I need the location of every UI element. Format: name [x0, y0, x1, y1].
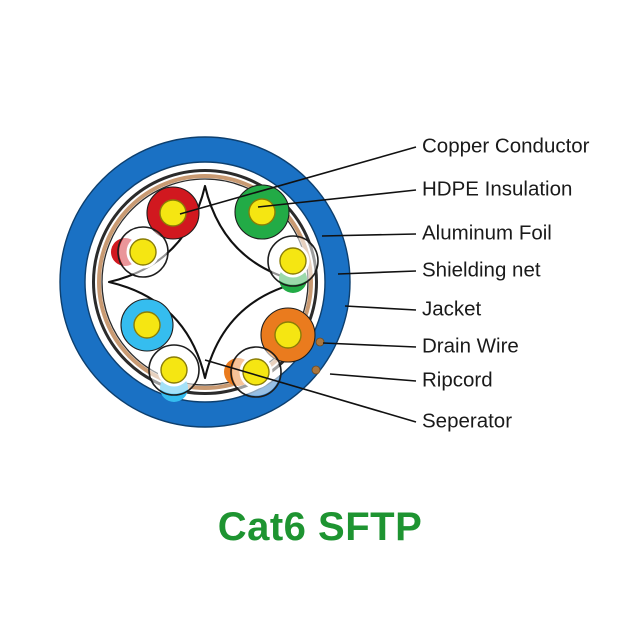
cable-cross-section-diagram: Copper ConductorHDPE InsulationAluminum …	[0, 0, 640, 640]
label-hdpe-insulation: HDPE Insulation	[422, 177, 572, 200]
label-ripcord: Ripcord	[422, 368, 493, 391]
ripcord-dot	[312, 366, 320, 374]
copper-conductor	[275, 322, 301, 348]
figure-title: Cat6 SFTP	[218, 505, 423, 549]
cable-graphic	[60, 137, 350, 427]
copper-conductor	[130, 239, 156, 265]
callout-labels: Copper ConductorHDPE InsulationAluminum …	[422, 134, 590, 432]
copper-conductor	[249, 199, 275, 225]
label-jacket: Jacket	[422, 297, 482, 320]
label-copper-conductor: Copper Conductor	[422, 134, 590, 157]
copper-conductor	[134, 312, 160, 338]
label-shielding-net: Shielding net	[422, 258, 541, 281]
drain-wire-dot	[316, 338, 324, 346]
leader-line-drain-wire	[323, 343, 416, 347]
label-aluminum-foil: Aluminum Foil	[422, 221, 552, 244]
label-drain-wire: Drain Wire	[422, 334, 519, 357]
leader-line-jacket	[345, 306, 416, 310]
copper-conductor	[161, 357, 187, 383]
diagram-canvas: Copper ConductorHDPE InsulationAluminum …	[0, 0, 640, 640]
copper-conductor	[280, 248, 306, 274]
label-seperator: Seperator	[422, 409, 512, 432]
leader-line-ripcord	[330, 374, 416, 381]
